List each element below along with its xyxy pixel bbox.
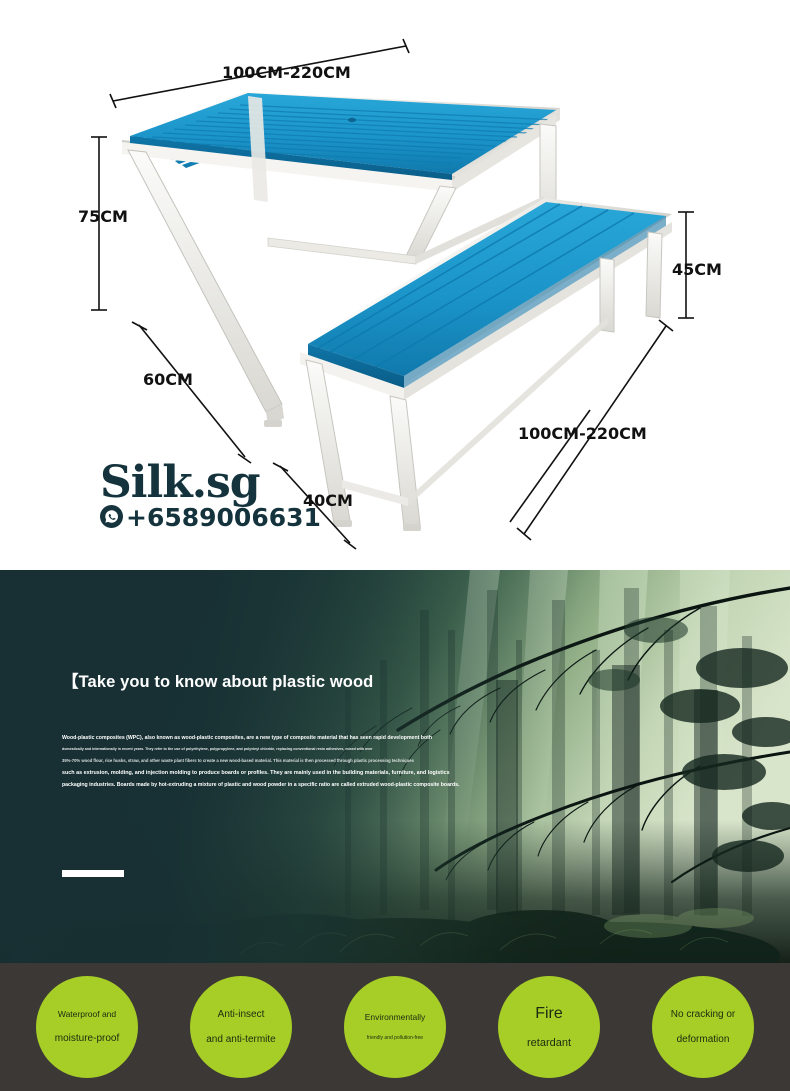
logo-phone-number: +6589006631: [126, 503, 321, 532]
dimension-table-height: 75CM: [78, 207, 128, 226]
paragraph-line-5: packaging industries. Boards made by hot…: [62, 783, 502, 788]
banner-heading: 【Take you to know about plastic wood: [62, 668, 502, 692]
paragraph-line-4: such as extrusion, molding, and injectio…: [62, 771, 502, 777]
badge-line-2: moisture-proof: [55, 1033, 119, 1044]
feature-badge-list: Waterproof and moisture-proof Anti-insec…: [0, 963, 790, 1091]
paragraph-line-1: Wood-plastic composites (WPC), also know…: [62, 736, 502, 741]
badge-line-1: No cracking or: [671, 1009, 735, 1020]
dimension-table-depth: 60CM: [143, 370, 193, 389]
banner-divider-bar: [62, 870, 124, 877]
feature-badge-fire-retardant[interactable]: Fire retardant: [498, 976, 600, 1078]
product-listing-page: 100CM-220CM 75CM 60CM 45CM 40CM 100CM-22…: [0, 0, 790, 1091]
dimension-bench-length: 100CM-220CM: [518, 424, 647, 443]
paragraph-line-3: 35%-70% wood flour, rice husks, straw, a…: [62, 759, 502, 763]
forest-banner-section: 【Take you to know about plastic wood Woo…: [0, 570, 790, 963]
banner-paragraph: Wood-plastic composites (WPC), also know…: [62, 736, 502, 789]
features-section: Waterproof and moisture-proof Anti-insec…: [0, 963, 790, 1091]
badge-line-1: Anti-insect: [218, 1009, 265, 1020]
badge-line-2: and anti-termite: [206, 1034, 275, 1045]
whatsapp-icon: [100, 505, 123, 528]
logo-monogram: S R: [38, 457, 83, 519]
logo-letter-r: R: [50, 487, 102, 549]
dimension-table-length: 100CM-220CM: [222, 63, 351, 82]
product-diagram-section: 100CM-220CM 75CM 60CM 45CM 40CM 100CM-22…: [0, 0, 790, 570]
badge-line-2: retardant: [527, 1037, 571, 1049]
feature-badge-waterproof[interactable]: Waterproof and moisture-proof: [36, 976, 138, 1078]
dimension-bench-height: 45CM: [672, 260, 722, 279]
badge-line-2: friendly and pollution-free: [367, 1036, 423, 1042]
feature-badge-environmentally-friendly[interactable]: Environmentally friendly and pollution-f…: [344, 976, 446, 1078]
badge-line-2: deformation: [677, 1034, 730, 1045]
banner-copy: 【Take you to know about plastic wood Woo…: [62, 668, 502, 796]
paragraph-line-2: domestically and internationally in rece…: [62, 748, 502, 752]
badge-line-1: Waterproof and: [58, 1010, 116, 1019]
badge-line-1: Environmentally: [365, 1013, 425, 1022]
badge-line-1: Fire: [535, 1005, 563, 1023]
feature-badge-no-cracking[interactable]: No cracking or deformation: [652, 976, 754, 1078]
feature-badge-anti-insect[interactable]: Anti-insect and anti-termite: [190, 976, 292, 1078]
brand-watermark: S R Silk.sg +6589006631: [38, 455, 268, 555]
logo-brand-name: Silk.sg: [100, 457, 260, 508]
